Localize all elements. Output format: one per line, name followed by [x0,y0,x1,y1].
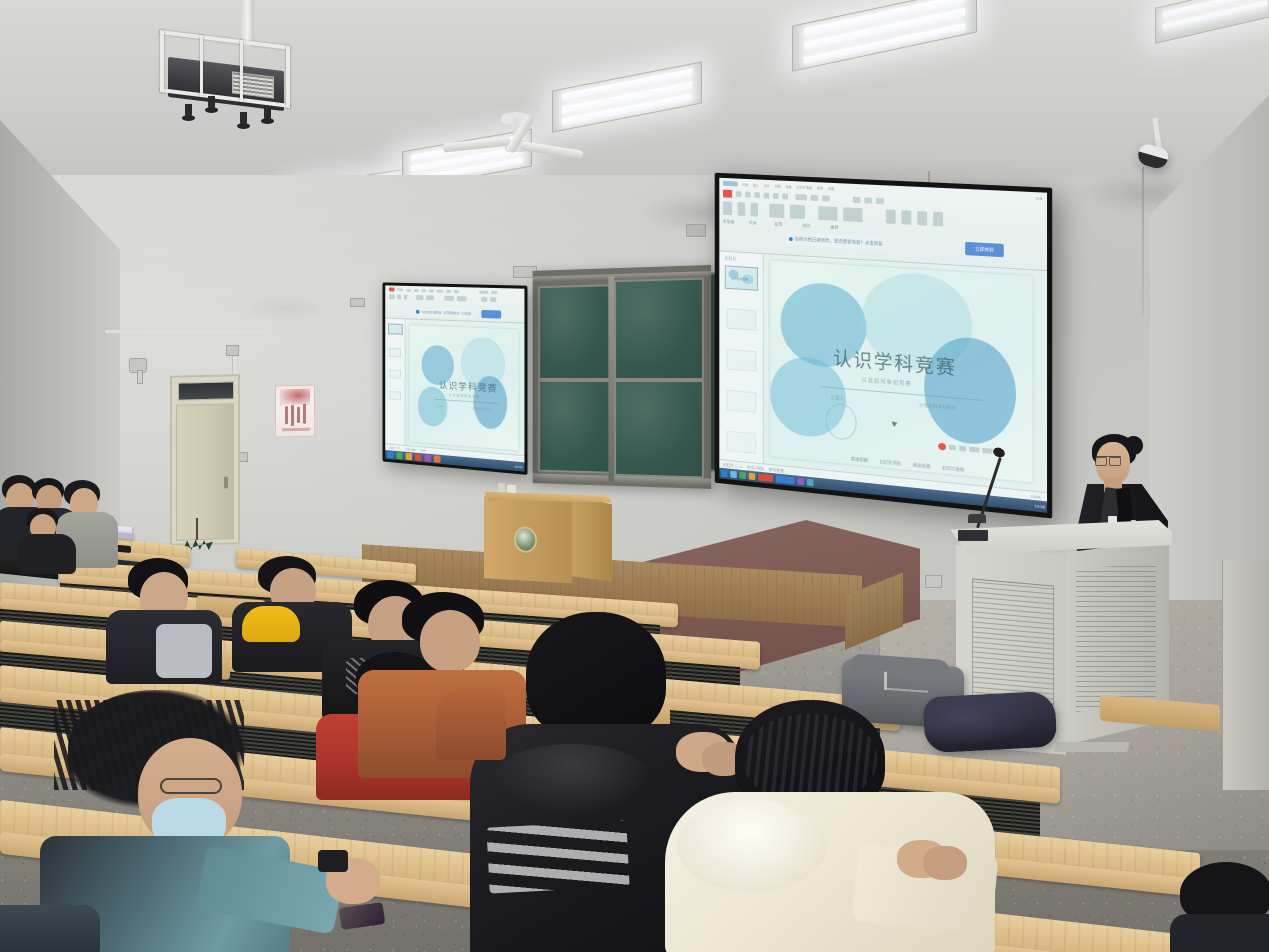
wall-junction-box [226,345,239,356]
student-dark-jacket [110,558,216,676]
student-right-edge [1180,862,1269,952]
start-icon[interactable] [721,470,727,477]
chalkboard [533,265,711,489]
wall-poster [275,385,315,438]
wall-cabinet-right [1222,560,1269,790]
lectern-vent [1076,562,1156,712]
thumbnail-pane-label: 幻灯片 [725,256,737,263]
backpack-print [884,672,928,693]
glasses-icon [1095,456,1121,463]
slide-meta-left-main: 汇报人 [831,395,844,402]
hoodie-hood [677,800,827,892]
ribbon-tab-animation[interactable]: 动画 [786,184,792,188]
lectern-vent [972,578,1054,705]
hoodie-hood [492,744,652,814]
ribbon-group-editing: 编辑 [830,224,838,230]
slide-thumbnail[interactable] [389,369,401,379]
hair-texture [743,714,877,804]
ribbon-tab-slideshow[interactable]: 幻灯片放映 [797,185,813,190]
university-crest-icon [514,526,537,553]
lectern-control-plate[interactable] [958,530,988,541]
classroom-door[interactable] [170,374,240,546]
projector-foot [185,104,192,117]
ceiling-light-panel [792,0,977,72]
student-left-edge [0,905,100,952]
lectern-base [1054,742,1130,752]
ribbon-tab-insert[interactable]: 插入 [753,183,759,187]
slide-subtitle-left: 以及如何参加竞赛 [449,393,480,399]
microphone-base [968,514,986,523]
status-zoom: 100% [1030,494,1041,500]
app-ribbon-main: 开始 插入 设计 切换 动画 幻灯片放映 审阅 视图 分享 [719,178,1047,271]
ribbon-tab-view[interactable]: 视图 [828,186,834,190]
ribbon-tab-design[interactable]: 设计 [764,183,770,187]
student-cream-hoodie [665,700,995,952]
slide-thumbnail[interactable] [727,308,757,331]
wristwatch [318,850,348,872]
settings-icon[interactable] [807,479,814,487]
hoodie-graphic [486,820,629,893]
slide-subtitle-main: 以及如何参加竞赛 [862,376,912,388]
wall-conduit-pipe [104,330,264,333]
mouse-cursor [892,420,899,427]
slide-thumbnail[interactable] [389,391,401,401]
door-handle[interactable] [224,476,228,488]
ribbon-group-font: 字体 [749,220,757,226]
ribbon-cta-button[interactable] [481,310,501,319]
projection-screen-left: 开始 [383,282,528,475]
glasses-icon [160,778,222,794]
wooden-podium [484,488,612,586]
screen-surface-left: 开始 [385,285,524,471]
student-mid-left-partial [436,690,506,760]
browser-icon[interactable] [749,473,755,481]
lecture-hall-photo: 开始 [0,0,1269,952]
ribbon-tabs: 开始 [397,288,403,292]
slide-thumbnail-pane-left[interactable] [385,319,405,445]
ribbon-group-clipboard: 剪贴板 [723,219,735,225]
media-icon[interactable] [797,478,804,486]
ribbon-cta-button-main[interactable]: 立即体验 [965,242,1004,257]
door-leaf[interactable] [176,403,234,540]
slide-thumbnail-pane-main[interactable]: 幻灯片 认识学科竞赛 [719,251,763,463]
slide-thumbnail[interactable] [389,348,401,357]
slide-thumbnail[interactable] [388,323,403,334]
projector-foot [208,96,215,109]
slide-canvas-left: 认识学科竞赛 以及如何参加竞赛 汇报人 计算机科学与技术 [409,325,518,450]
chat-icon[interactable] [776,475,795,484]
taskbar-clock: 19:36 [1035,503,1045,509]
document-notice-bar[interactable]: 当前文档已被修改，是否需要恢复？点击恢复 [413,308,474,318]
ribbon-group-arrange: 排列 [802,223,810,229]
podium-cup [498,483,505,492]
student-back-left-dark [22,508,76,568]
ceiling-light-panel [1155,0,1269,44]
app-ribbon-left: 开始 [385,285,524,323]
projector-foot [240,112,247,125]
wps-icon[interactable] [758,474,773,482]
slide-thumbnail[interactable] [727,349,757,372]
projector-mount-rod [241,0,254,46]
screen-roller-housing [686,224,706,237]
ribbon-tab-review[interactable]: 审阅 [817,186,823,190]
ribbon-tab-start[interactable]: 开始 [742,182,748,186]
wps-float-toolbar[interactable] [938,443,992,455]
slide-thumbnail[interactable]: 认识学科竞赛 [725,265,758,291]
slide-meta-left: 汇报人 [437,404,444,408]
document-notice-bar-main[interactable]: 当前文档已被修改，是否需要恢复？点击恢复 [786,232,886,251]
door-transom-window [178,381,234,400]
ribbon-group-paragraph: 段落 [774,221,782,227]
slide-thumbnail[interactable] [727,431,757,454]
wall-switch [350,298,365,307]
wall-outlet [925,575,942,588]
explorer-icon[interactable] [740,472,746,479]
wall-speaker-bracket [137,370,143,384]
projection-screen-main: 开始 插入 设计 切换 动画 幻灯片放映 审阅 视图 分享 [715,173,1052,519]
projector-foot [264,107,271,120]
search-icon[interactable] [730,471,736,478]
slide-thumbnail[interactable] [727,390,757,413]
ceiling-light-panel [552,61,702,132]
thumbnail-title: 认识学科竞赛 [731,277,748,282]
ribbon-tab-transition[interactable]: 切换 [775,184,781,188]
podium-cup [507,485,516,494]
ribbon-action-share[interactable]: 分享 [1036,196,1043,200]
